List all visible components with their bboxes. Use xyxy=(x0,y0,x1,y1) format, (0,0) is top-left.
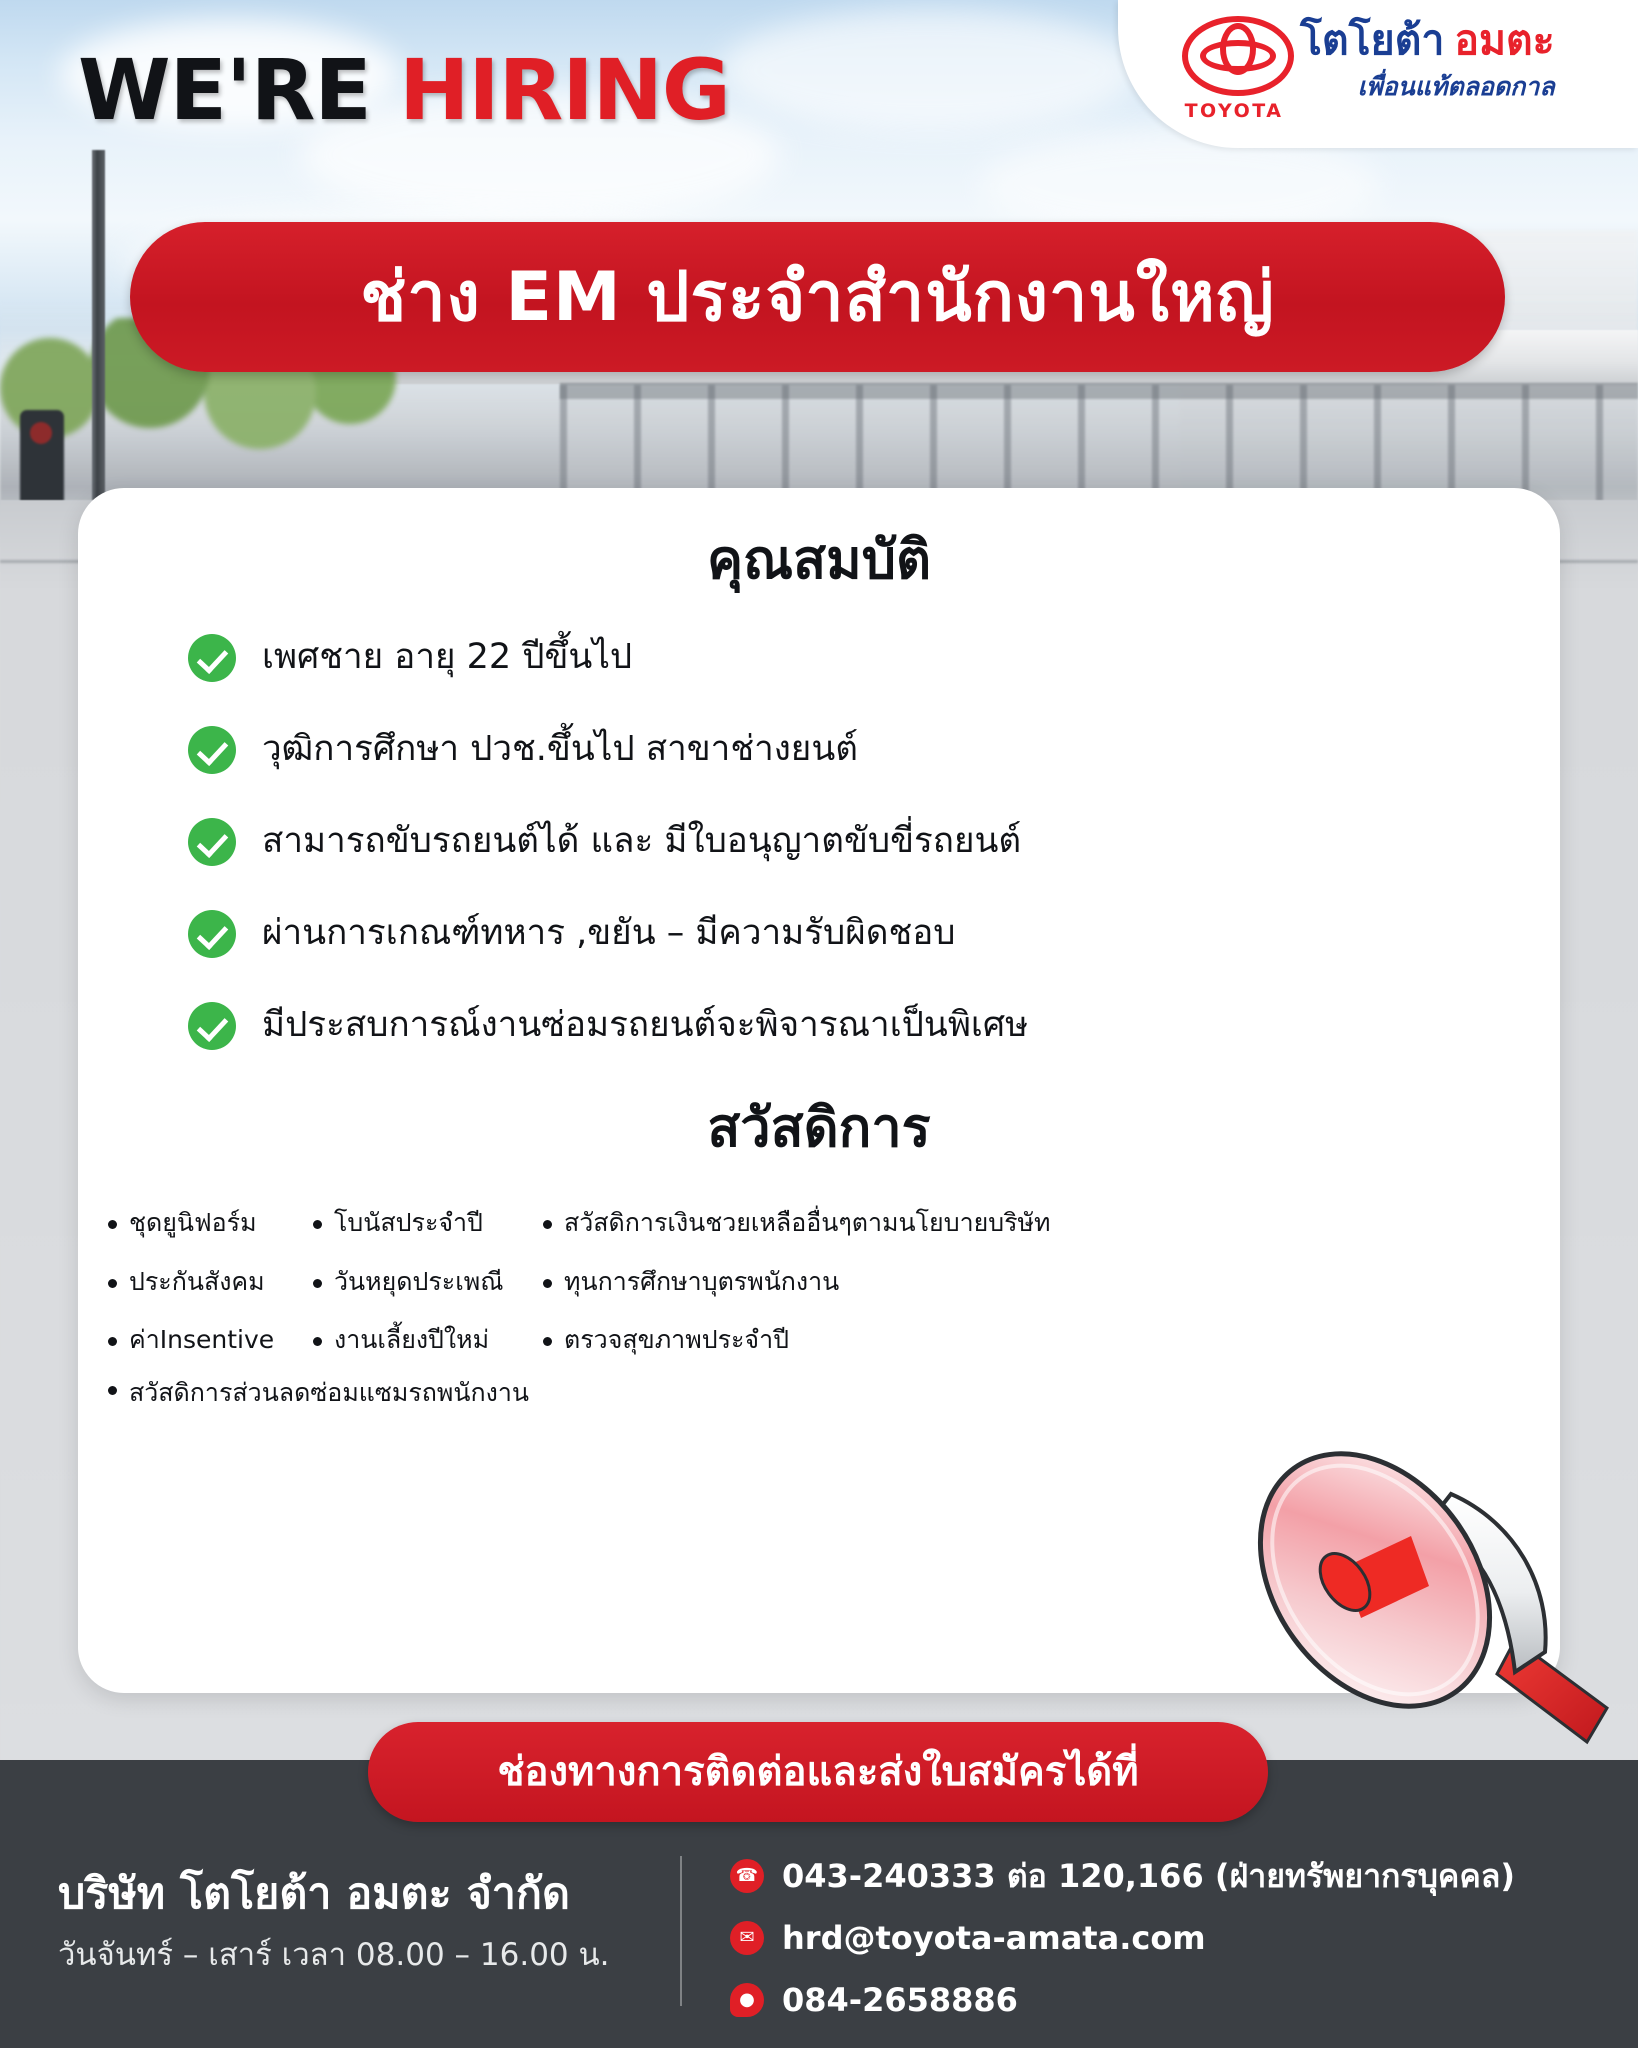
qualification-item: วุฒิการศึกษา ปวช.ขึ้นไป สาขาช่างยนต์ xyxy=(188,726,1560,774)
benefit-text: สวัสดิการเงินชวยเหลืออื่นๆตามนโยบายบริษั… xyxy=(564,1207,1051,1240)
qualification-item: สามารถขับรถยนต์ได้ และ มีใบอนุญาตขับขี่ร… xyxy=(188,818,1560,866)
toyota-wordmark: TOYOTA xyxy=(1182,100,1286,122)
qualification-text: ผ่านการเกณฑ์ทหาร ,ขยัน – มีความรับผิดชอบ xyxy=(262,910,955,957)
top-banner: WE'RE HIRING TOYOTA โตโยต้าอมตะ เพื่อนแท… xyxy=(0,0,1638,160)
bullet-dot-icon xyxy=(313,1220,322,1229)
benefit-item: ตรวจสุขภาพประจำปี xyxy=(543,1324,1083,1357)
job-title-banner: ช่าง EM ประจำสำนักงานใหญ่ xyxy=(130,222,1505,372)
qualification-text: มีประสบการณ์งานซ่อมรถยนต์จะพิจารณาเป็นพิ… xyxy=(262,1002,1028,1049)
brand-name-toyota-thai: โตโยต้า xyxy=(1300,16,1444,64)
bullet-dot-icon xyxy=(108,1220,117,1229)
benefit-text: ทุนการศึกษาบุตรพนักงาน xyxy=(564,1266,839,1299)
benefits-column-2: โบนัสประจำปี วันหยุดประเพณี งานเลี้ยงปีใ… xyxy=(313,1207,543,1383)
footer-business-hours: วันจันทร์ – เสาร์ เวลา 08.00 – 16.00 น. xyxy=(58,1936,610,1975)
check-circle-icon xyxy=(188,1002,236,1050)
contact-banner: ช่องทางการติดต่อและส่งใบสมัครได้ที่ xyxy=(368,1722,1268,1822)
job-title-text: ช่าง EM ประจำสำนักงานใหญ่ xyxy=(360,255,1274,340)
bullet-dot-icon xyxy=(313,1279,322,1288)
bullet-dot-icon xyxy=(313,1337,322,1346)
dealership-pillars xyxy=(560,385,1638,505)
benefit-item: ทุนการศึกษาบุตรพนักงาน xyxy=(543,1266,1083,1299)
footer-email-text: hrd@toyota-amata.com xyxy=(782,1918,1206,1958)
footer-mobile-text: 084-2658886 xyxy=(782,1980,1018,2020)
check-circle-icon xyxy=(188,818,236,866)
qualification-text: เพศชาย อายุ 22 ปีขึ้นไป xyxy=(262,634,632,681)
qualification-text: วุฒิการศึกษา ปวช.ขึ้นไป สาขาช่างยนต์ xyxy=(262,726,858,773)
bullet-dot-icon xyxy=(543,1220,552,1229)
hiring-headline-hiring: HIRING xyxy=(399,41,730,139)
benefit-item: งานเลี้ยงปีใหม่ xyxy=(313,1324,543,1357)
benefits-column-1: ชุดยูนิฟอร์ม ประกันสังคม ค่าInsentive xyxy=(108,1207,313,1383)
check-circle-icon xyxy=(188,910,236,958)
footer-company-name: บริษัท โตโยต้า อมตะ จำกัด xyxy=(58,1868,610,1922)
qualification-item: เพศชาย อายุ 22 ปีขึ้นไป xyxy=(188,634,1560,682)
benefit-item: ชุดยูนิฟอร์ม xyxy=(108,1207,313,1240)
hiring-headline-were: WE'RE xyxy=(78,41,371,139)
brand-thai-name: โตโยต้าอมตะ เพื่อนแท้ตลอดกาล xyxy=(1300,16,1555,107)
bullet-dot-icon xyxy=(108,1279,117,1288)
benefit-text: สวัสดิการส่วนลดซ่อมแซมรถพนักงาน xyxy=(129,1373,529,1413)
hiring-headline: WE'RE HIRING xyxy=(78,48,730,132)
footer-email-row[interactable]: ✉ hrd@toyota-amata.com xyxy=(730,1918,1515,1958)
check-circle-icon xyxy=(188,634,236,682)
toyota-emblem-icon xyxy=(1182,16,1294,96)
benefit-item: ประกันสังคม xyxy=(108,1266,313,1299)
brand-logo-plate: TOYOTA โตโยต้าอมตะ เพื่อนแท้ตลอดกาล xyxy=(1118,0,1638,148)
contact-banner-text: ช่องทางการติดต่อและส่งใบสมัครได้ที่ xyxy=(497,1747,1138,1797)
benefit-item: โบนัสประจำปี xyxy=(313,1207,543,1240)
benefit-text: งานเลี้ยงปีใหม่ xyxy=(334,1324,489,1357)
benefit-text: ประกันสังคม xyxy=(129,1266,265,1299)
check-circle-icon xyxy=(188,726,236,774)
content-card: คุณสมบัติ เพศชาย อายุ 22 ปีขึ้นไป วุฒิกา… xyxy=(78,488,1560,1693)
benefits-columns: ชุดยูนิฟอร์ม ประกันสังคม ค่าInsentive xyxy=(78,1161,1560,1383)
bullet-dot-icon xyxy=(108,1337,117,1346)
qualifications-heading: คุณสมบัติ xyxy=(78,526,1560,594)
benefits-column-3: สวัสดิการเงินชวยเหลืออื่นๆตามนโยบายบริษั… xyxy=(543,1207,1083,1383)
benefits-heading: สวัสดิการ xyxy=(78,1094,1560,1162)
toyota-logo: TOYOTA xyxy=(1182,16,1286,122)
brand-tagline: เพื่อนแท้ตลอดกาล xyxy=(1300,67,1555,107)
benefit-item: วันหยุดประเพณี xyxy=(313,1266,543,1299)
benefit-text: วันหยุดประเพณี xyxy=(334,1266,503,1299)
footer-company-block: บริษัท โตโยต้า อมตะ จำกัด วันจันทร์ – เส… xyxy=(58,1868,610,1975)
qualification-text: สามารถขับรถยนต์ได้ และ มีใบอนุญาตขับขี่ร… xyxy=(262,818,1021,865)
benefit-text: ค่าInsentive xyxy=(129,1324,274,1357)
benefit-item: ค่าInsentive xyxy=(108,1324,313,1357)
bullet-dot-icon xyxy=(108,1386,117,1395)
phone-icon: ☎ xyxy=(730,1859,764,1893)
envelope-icon: ✉ xyxy=(730,1921,764,1955)
footer-phone-text: 043-240333 ต่อ 120,166 (ฝ่ายทรัพยากรบุคค… xyxy=(782,1856,1515,1896)
footer-divider xyxy=(680,1856,682,2006)
benefit-item: สวัสดิการเงินชวยเหลืออื่นๆตามนโยบายบริษั… xyxy=(543,1207,1083,1240)
benefit-text: ตรวจสุขภาพประจำปี xyxy=(564,1324,789,1357)
brand-name-amata-thai: อมตะ xyxy=(1454,16,1554,64)
job-poster: TOYOTA WE'RE HIRING TOYOTA โตโยต้าอมตะ xyxy=(0,0,1638,2048)
footer-contact-block: ☎ 043-240333 ต่อ 120,166 (ฝ่ายทรัพยากรบุ… xyxy=(730,1856,1515,2042)
footer-mobile-row[interactable]: ● 084-2658886 xyxy=(730,1980,1515,2020)
bullet-dot-icon xyxy=(543,1279,552,1288)
footer-phone-row[interactable]: ☎ 043-240333 ต่อ 120,166 (ฝ่ายทรัพยากรบุ… xyxy=(730,1856,1515,1896)
chat-bubble-icon: ● xyxy=(730,1983,764,2017)
qualification-item: มีประสบการณ์งานซ่อมรถยนต์จะพิจารณาเป็นพิ… xyxy=(188,1002,1560,1050)
qualifications-list: เพศชาย อายุ 22 ปีขึ้นไป วุฒิการศึกษา ปวช… xyxy=(78,634,1560,1050)
bullet-dot-icon xyxy=(543,1337,552,1346)
qualification-item: ผ่านการเกณฑ์ทหาร ,ขยัน – มีความรับผิดชอบ xyxy=(188,910,1560,958)
benefit-text: ชุดยูนิฟอร์ม xyxy=(129,1207,257,1240)
benefit-text: โบนัสประจำปี xyxy=(334,1207,483,1240)
